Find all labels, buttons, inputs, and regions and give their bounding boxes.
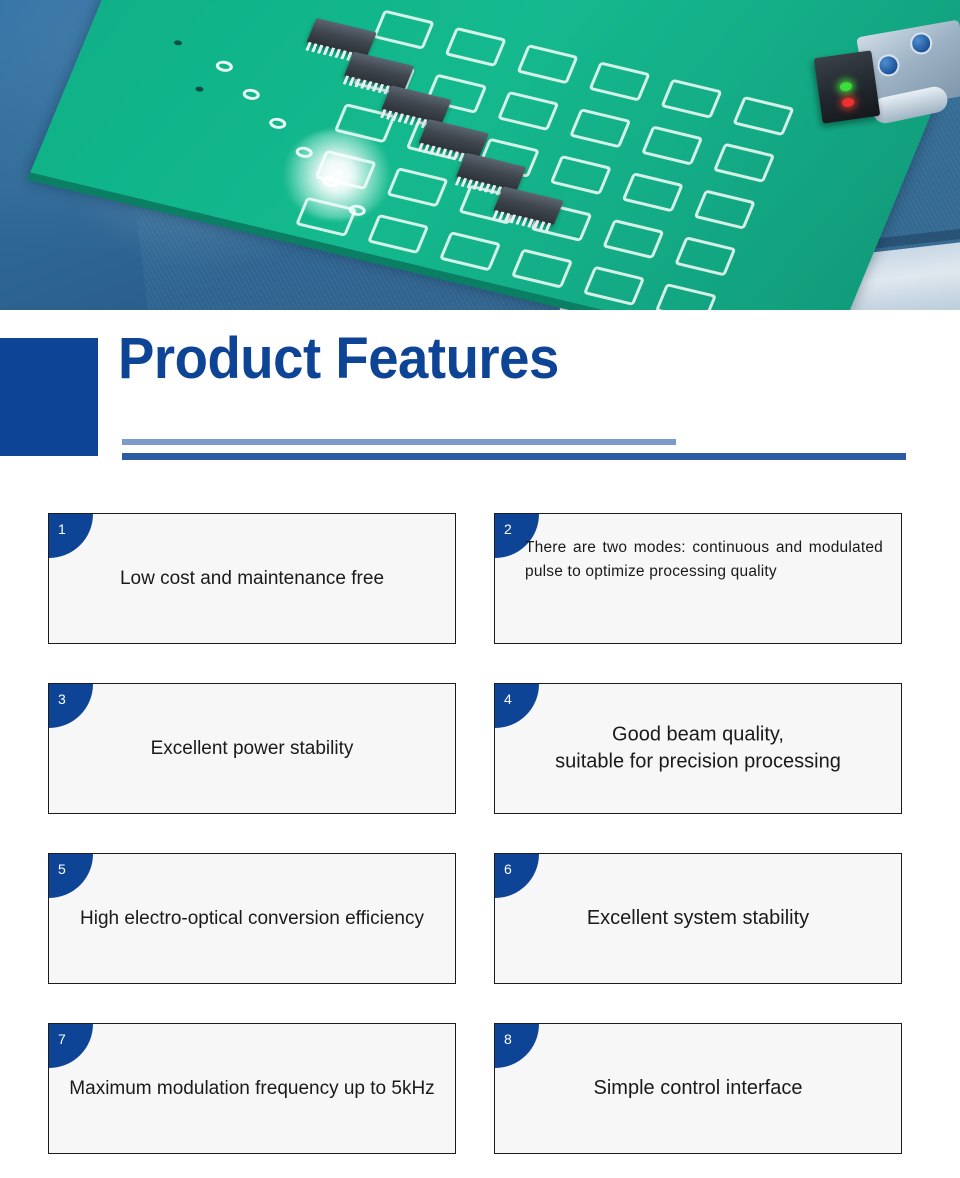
adjust-knob [908,31,933,56]
feature-number-2: 2 [504,522,512,536]
feature-number-6: 6 [504,862,512,876]
feature-text-8: Simple control interface [509,1075,887,1103]
feature-number-badge-7: 7 [49,1024,93,1068]
feature-text-3: Excellent power stability [63,735,441,761]
feature-number-4: 4 [504,692,512,706]
laser-sensor-head [814,50,881,123]
header-rule-dark [122,453,906,460]
feature-text-1: Low cost and maintenance free [63,565,441,591]
pcb-via [214,59,235,73]
header-rule-light [122,439,676,445]
feature-number-1: 1 [58,522,66,536]
feature-number-badge-5: 5 [49,854,93,898]
feature-number-7: 7 [58,1032,66,1046]
feature-card-grid: 1 Low cost and maintenance free 2 There … [48,513,902,1154]
adjust-knob [876,53,901,78]
feature-text-2: There are two modes: continuous and modu… [525,536,883,585]
feature-card-6: 6 Excellent system stability [494,853,902,984]
feature-number-3: 3 [58,692,66,706]
pcb-hole [173,40,183,47]
product-features-page: Product Features 1 Low cost and maintena… [0,0,960,1178]
feature-number-badge-3: 3 [49,684,93,728]
feature-number-badge-6: 6 [495,854,539,898]
page-title: Product Features [118,330,559,388]
pcb-via [241,87,262,101]
feature-card-3: 3 Excellent power stability [48,683,456,814]
ic-chip [306,18,376,57]
feature-text-6: Excellent system stability [509,905,887,933]
feature-card-5: 5 High electro-optical conversion effici… [48,853,456,984]
feature-card-2: 2 There are two modes: continuous and mo… [494,513,902,644]
feature-card-1: 1 Low cost and maintenance free [48,513,456,644]
feature-text-7: Maximum modulation frequency up to 5kHz [63,1075,441,1101]
feature-card-7: 7 Maximum modulation frequency up to 5kH… [48,1023,456,1154]
feature-number-5: 5 [58,862,66,876]
feature-number-badge-8: 8 [495,1024,539,1068]
feature-card-8: 8 Simple control interface [494,1023,902,1154]
feature-number-8: 8 [504,1032,512,1046]
status-led-green-icon [839,81,852,92]
laser-marking-glow [282,130,392,220]
pcb-via [267,116,288,130]
feature-number-badge-1: 1 [49,514,93,558]
pcb-hole [195,86,205,93]
status-led-red-icon [842,97,855,108]
feature-text-5: High electro-optical conversion efficien… [63,905,441,931]
section-header: Product Features [0,310,960,500]
feature-text-4: Good beam quality, suitable for precisio… [509,721,887,776]
header-accent-block [0,338,98,456]
feature-card-4: 4 Good beam quality, suitable for precis… [494,683,902,814]
hero-banner-image [0,0,960,310]
